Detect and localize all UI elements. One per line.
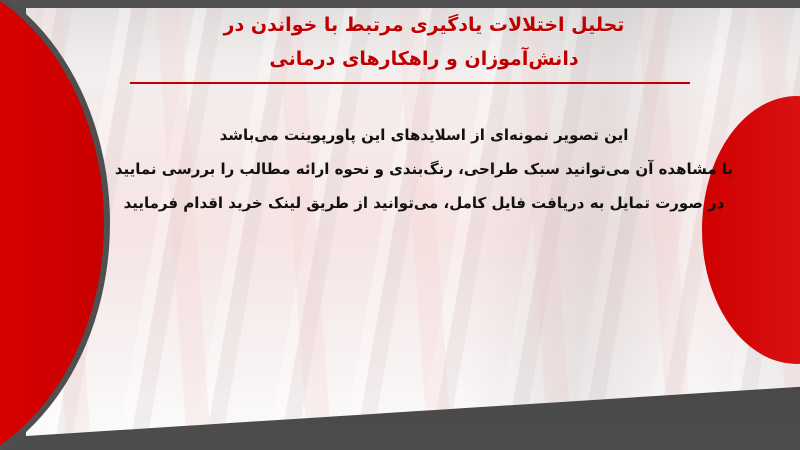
body-line-1: این تصویر نمونه‌ای از اسلایدهای این پاور… — [88, 118, 760, 152]
slide-canvas: تحلیل اختلالات یادگیری مرتبط با خواندن د… — [0, 0, 800, 450]
title-line-2: دانش‌آموزان و راهکارهای درمانی — [74, 42, 774, 76]
slide-body: این تصویر نمونه‌ای از اسلایدهای این پاور… — [88, 118, 760, 220]
title-underline-rule — [130, 82, 690, 84]
slide-title: تحلیل اختلالات یادگیری مرتبط با خواندن د… — [74, 8, 774, 76]
body-line-3: در صورت تمایل به دریافت فایل کامل، می‌تو… — [88, 186, 760, 220]
title-line-1: تحلیل اختلالات یادگیری مرتبط با خواندن د… — [74, 8, 774, 42]
body-line-2: با مشاهده آن می‌توانید سبک طراحی، رنگ‌بن… — [88, 152, 760, 186]
